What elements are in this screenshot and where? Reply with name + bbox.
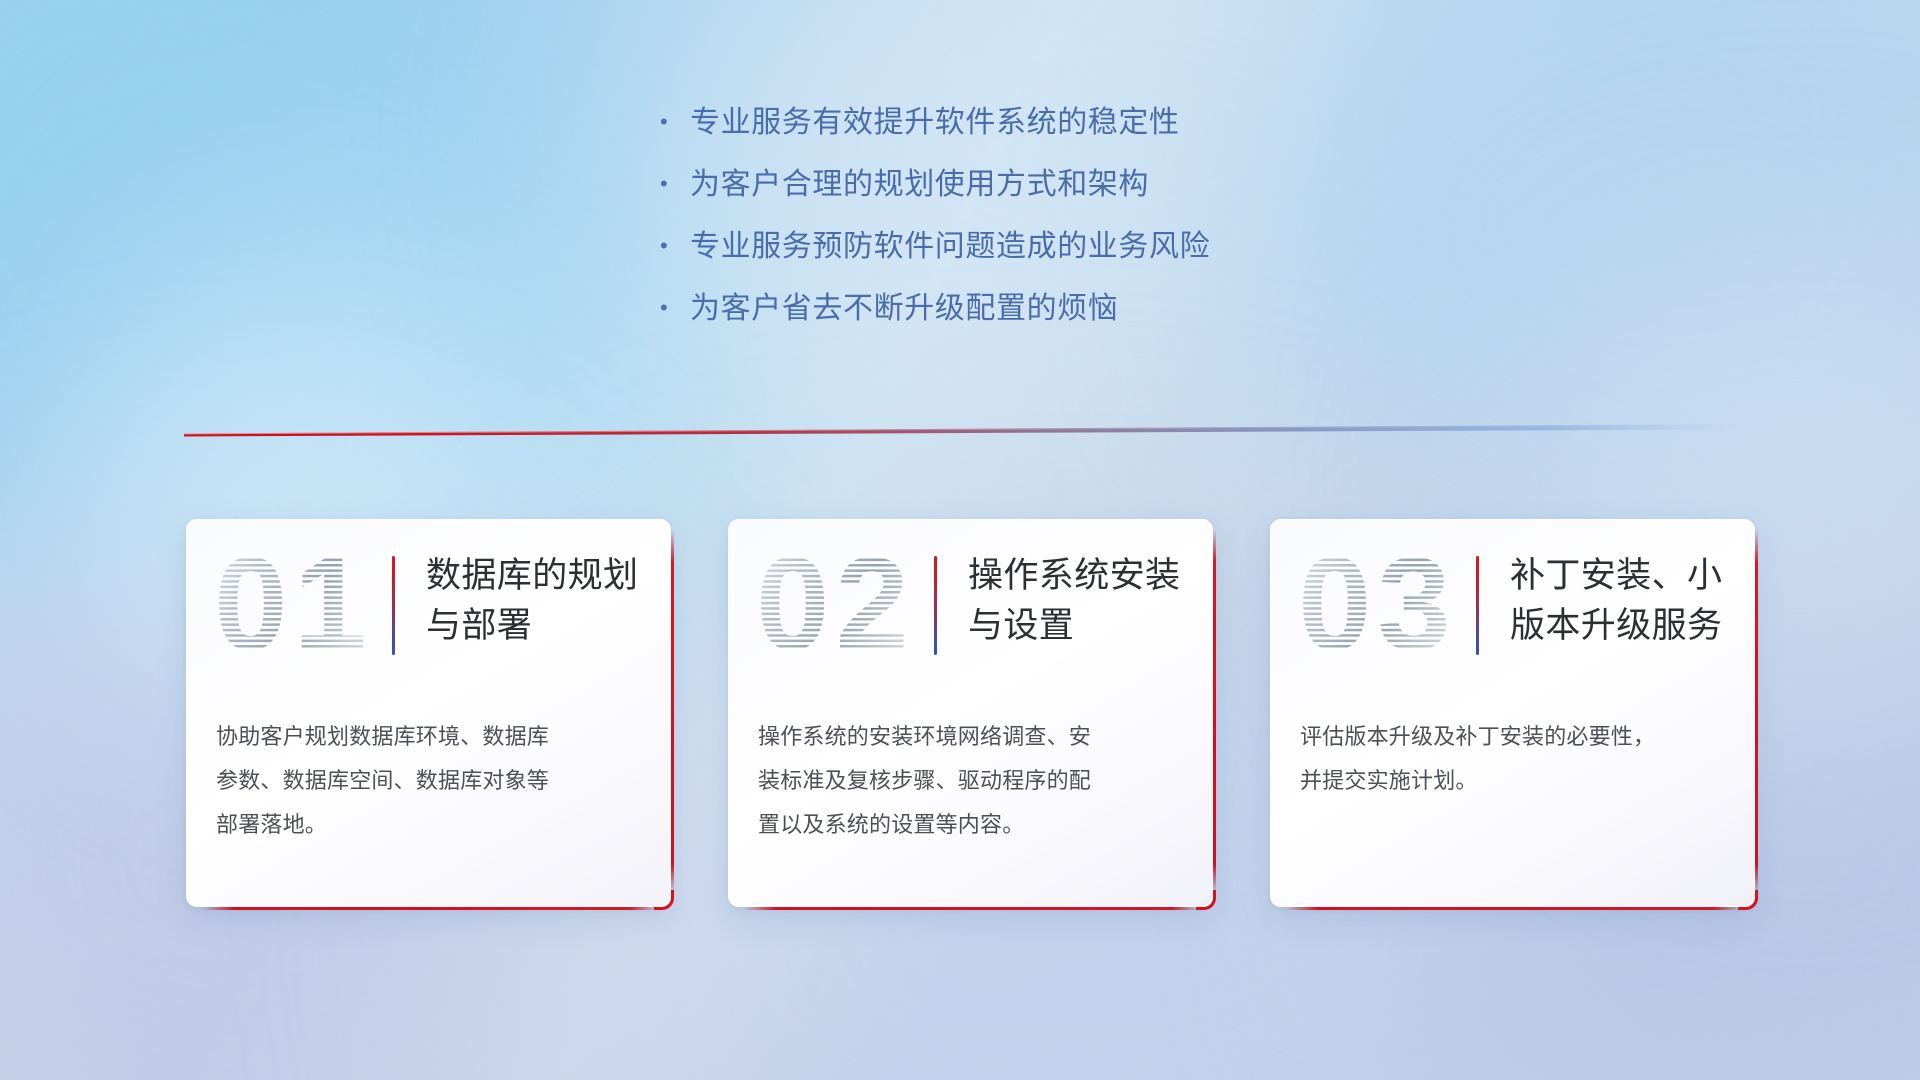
accent-corner-bottom-right (654, 890, 674, 910)
list-item: • 为客户合理的规划使用方式和架构 (660, 168, 1210, 201)
card-body-line-3: 置以及系统的设置等内容。 (758, 803, 1185, 847)
accent-corner-bottom-right (1738, 890, 1758, 910)
card-body-line-1: 操作系统的安装环境网络调查、安 (758, 715, 1185, 759)
card-title-line-2: 与部署 (426, 606, 532, 645)
bullet-text: 为客户省去不断升级配置的烦恼 (690, 292, 1118, 325)
accent-edge-right (671, 530, 674, 893)
service-card-02[interactable]: 02 操作系统安装 与设置 操作系统的安装环境网络调查、安 装标准及复核步骤、驱… (728, 519, 1213, 907)
card-header-01: 数据库的规划 与部署 (392, 551, 645, 655)
card-title-03: 补丁安装、小 版本升级服务 (1510, 551, 1722, 650)
bullet-marker-icon: • (660, 111, 690, 133)
accent-corner-bottom-right (1196, 890, 1216, 910)
accent-edge-right (1213, 530, 1216, 893)
card-title-01: 数据库的规划 与部署 (426, 551, 638, 650)
card-body-03: 评估版本升级及补丁安装的必要性， 并提交实施计划。 (1300, 715, 1727, 803)
svg-text:01: 01 (214, 537, 373, 672)
title-accent-bar (392, 556, 395, 655)
list-item: • 专业服务预防软件问题造成的业务风险 (660, 230, 1210, 263)
service-card-03[interactable]: 03 补丁安装、小 版本升级服务 评估版本升级及补丁安装的必要性， 并提交实施计… (1270, 519, 1755, 907)
bullet-text: 为客户合理的规划使用方式和架构 (690, 168, 1149, 201)
bullet-marker-icon: • (660, 173, 690, 195)
card-title-line-1: 操作系统安装 (968, 556, 1180, 595)
card-title-line-1: 数据库的规划 (426, 556, 638, 595)
card-title-line-2: 版本升级服务 (1510, 606, 1722, 645)
card-number-watermark-03: 03 (1294, 537, 1484, 672)
service-card-row: 01 数据库的规划 与部署 协助客户规划数据库环境、数据库 参数、数据库空间、数… (186, 519, 1756, 919)
title-accent-bar (934, 556, 937, 655)
card-body-01: 协助客户规划数据库环境、数据库 参数、数据库空间、数据库对象等 部署落地。 (216, 715, 643, 847)
card-body-line-2: 装标准及复核步骤、驱动程序的配 (758, 759, 1185, 803)
card-body-line-1: 协助客户规划数据库环境、数据库 (216, 715, 643, 759)
accent-edge-bottom (1286, 907, 1741, 910)
card-body-line-1: 评估版本升级及补丁安装的必要性， (1300, 715, 1727, 759)
bullet-text: 专业服务有效提升软件系统的稳定性 (690, 106, 1180, 139)
section-divider (184, 419, 1744, 441)
card-title-02: 操作系统安装 与设置 (968, 551, 1180, 650)
card-body-line-2: 并提交实施计划。 (1300, 759, 1727, 803)
bullet-marker-icon: • (660, 297, 690, 319)
card-title-line-2: 与设置 (968, 606, 1074, 645)
service-card-01[interactable]: 01 数据库的规划 与部署 协助客户规划数据库环境、数据库 参数、数据库空间、数… (186, 519, 671, 907)
card-number-watermark-01: 01 (210, 537, 400, 672)
benefits-bullet-list: • 专业服务有效提升软件系统的稳定性 • 为客户合理的规划使用方式和架构 • 专… (660, 106, 1210, 325)
title-accent-bar (1476, 556, 1479, 655)
card-header-02: 操作系统安装 与设置 (934, 551, 1187, 655)
accent-edge-bottom (744, 907, 1199, 910)
svg-text:02: 02 (756, 537, 915, 672)
list-item: • 为客户省去不断升级配置的烦恼 (660, 292, 1210, 325)
card-body-line-2: 参数、数据库空间、数据库对象等 (216, 759, 643, 803)
bullet-marker-icon: • (660, 235, 690, 257)
list-item: • 专业服务有效提升软件系统的稳定性 (660, 106, 1210, 139)
accent-edge-bottom (202, 907, 657, 910)
svg-text:03: 03 (1298, 537, 1457, 672)
card-header-03: 补丁安装、小 版本升级服务 (1476, 551, 1729, 655)
card-number-watermark-02: 02 (752, 537, 942, 672)
card-body-line-3: 部署落地。 (216, 803, 643, 847)
card-title-line-1: 补丁安装、小 (1510, 556, 1722, 595)
bullet-text: 专业服务预防软件问题造成的业务风险 (690, 230, 1210, 263)
card-body-02: 操作系统的安装环境网络调查、安 装标准及复核步骤、驱动程序的配 置以及系统的设置… (758, 715, 1185, 847)
